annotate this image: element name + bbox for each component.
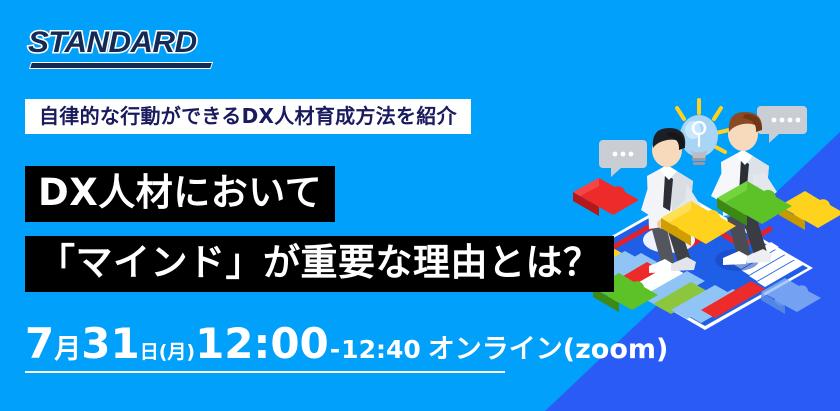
banner-canvas: STANDARD 自律的な行動ができるDX人材育成方法を紹介 DX人材において … (0, 0, 840, 411)
headline-band-line1: DX人材において (25, 166, 335, 222)
headline-line2-text: 「マインド」が重要な理由とは？ (38, 241, 601, 284)
schedule-day-unit: 日 (140, 330, 159, 374)
subtitle-text: 自律的な行動ができるDX人材育成方法を紹介 (39, 104, 457, 128)
schedule-line: 7 月 31 日 (月) 12:00 - 12:40 オンライン(zoom) (25, 322, 668, 374)
brand-logo-underbar (29, 62, 213, 69)
brand-logo[interactable]: STANDARD (28, 28, 218, 70)
schedule-start-time: 12:00 (195, 322, 329, 366)
subtitle-band: 自律的な行動ができるDX人材育成方法を紹介 (25, 99, 471, 134)
schedule-weekday: (月) (159, 330, 195, 374)
headline-band-line2: 「マインド」が重要な理由とは？ (25, 236, 614, 292)
schedule-venue: オンライン(zoom) (428, 328, 669, 372)
speech-bubble-left (599, 140, 647, 177)
headline-line1-text: DX人材において (38, 171, 322, 214)
hero-illustration (565, 88, 840, 333)
schedule-underline (25, 371, 505, 373)
brand-logo-text: STANDARD (28, 28, 226, 58)
puzzle-piece-red (573, 178, 639, 216)
schedule-time-dash: - (330, 328, 340, 372)
schedule-day-number: 31 (81, 322, 139, 366)
schedule-month-unit: 月 (54, 328, 81, 372)
puzzle-piece-yellow-right (779, 191, 840, 230)
schedule-month-number: 7 (25, 322, 54, 366)
schedule-end-time: 12:40 (341, 328, 421, 372)
speech-bubble-right (757, 106, 807, 143)
